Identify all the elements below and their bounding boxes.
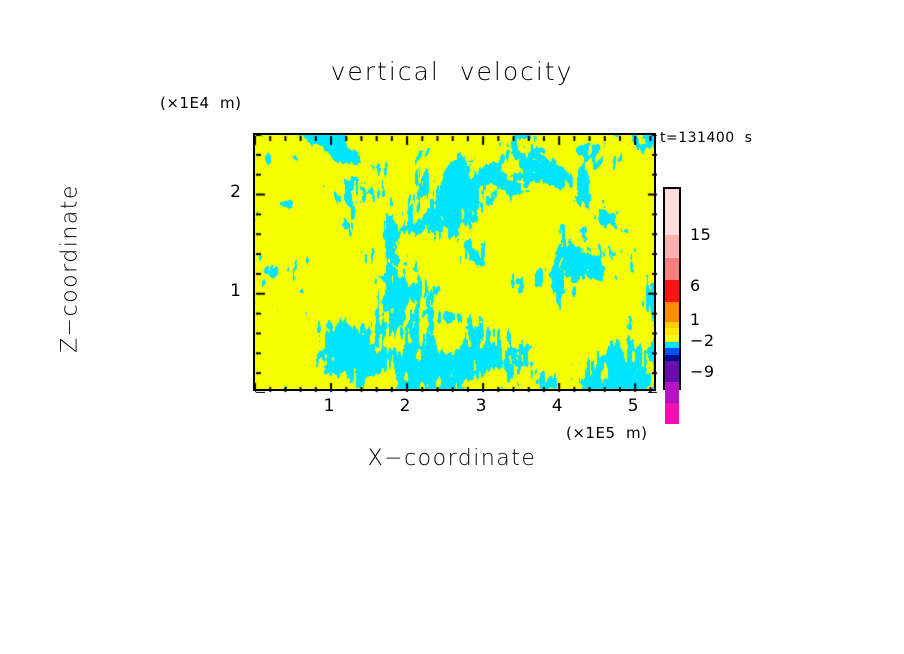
colorbar-band-6 xyxy=(665,328,679,335)
y-axis-unit-label: (×1E4 m) xyxy=(160,94,242,112)
colorbar-band-2 xyxy=(665,258,679,280)
velocity-field-image xyxy=(255,135,654,389)
colorbar-band-0 xyxy=(665,189,679,235)
colorbar-band-9 xyxy=(665,348,679,355)
colorbar-band-1 xyxy=(665,235,679,258)
colorbar-band-7 xyxy=(665,335,679,342)
x-axis-title: X−coordinate xyxy=(0,446,904,471)
contour-plot-area xyxy=(253,133,656,391)
colorbar-band-11 xyxy=(665,361,679,382)
x-tick-label-3: 3 xyxy=(461,396,501,416)
colorbar-band-13 xyxy=(665,403,679,424)
colorbar-label-1: 6 xyxy=(690,276,701,295)
x-tick-label-2: 2 xyxy=(385,396,425,416)
colorbar-label-4: −9 xyxy=(690,362,715,381)
colorbar-label-2: 1 xyxy=(690,310,701,329)
timestamp-annotation: t=131400 s xyxy=(660,130,752,146)
y-tick-label-2: 2 xyxy=(213,182,241,202)
colorbar-band-4 xyxy=(665,302,679,322)
figure-canvas: vertical velocity (×1E4 m) (×1E5 m) t=13… xyxy=(0,0,904,654)
colorbar xyxy=(663,187,681,390)
x-tick-label-5: 5 xyxy=(613,396,653,416)
y-axis-title: Z−coordinate xyxy=(58,119,83,419)
colorbar-label-3: −2 xyxy=(690,331,715,350)
y-tick-label-1: 1 xyxy=(213,281,241,301)
x-tick-label-4: 4 xyxy=(537,396,577,416)
x-axis-unit-label: (×1E5 m) xyxy=(566,424,648,442)
colorbar-band-3 xyxy=(665,280,679,302)
colorbar-band-12 xyxy=(665,382,679,403)
colorbar-label-0: 15 xyxy=(690,225,711,244)
page-title: vertical velocity xyxy=(0,57,904,86)
x-tick-label-1: 1 xyxy=(309,396,349,416)
